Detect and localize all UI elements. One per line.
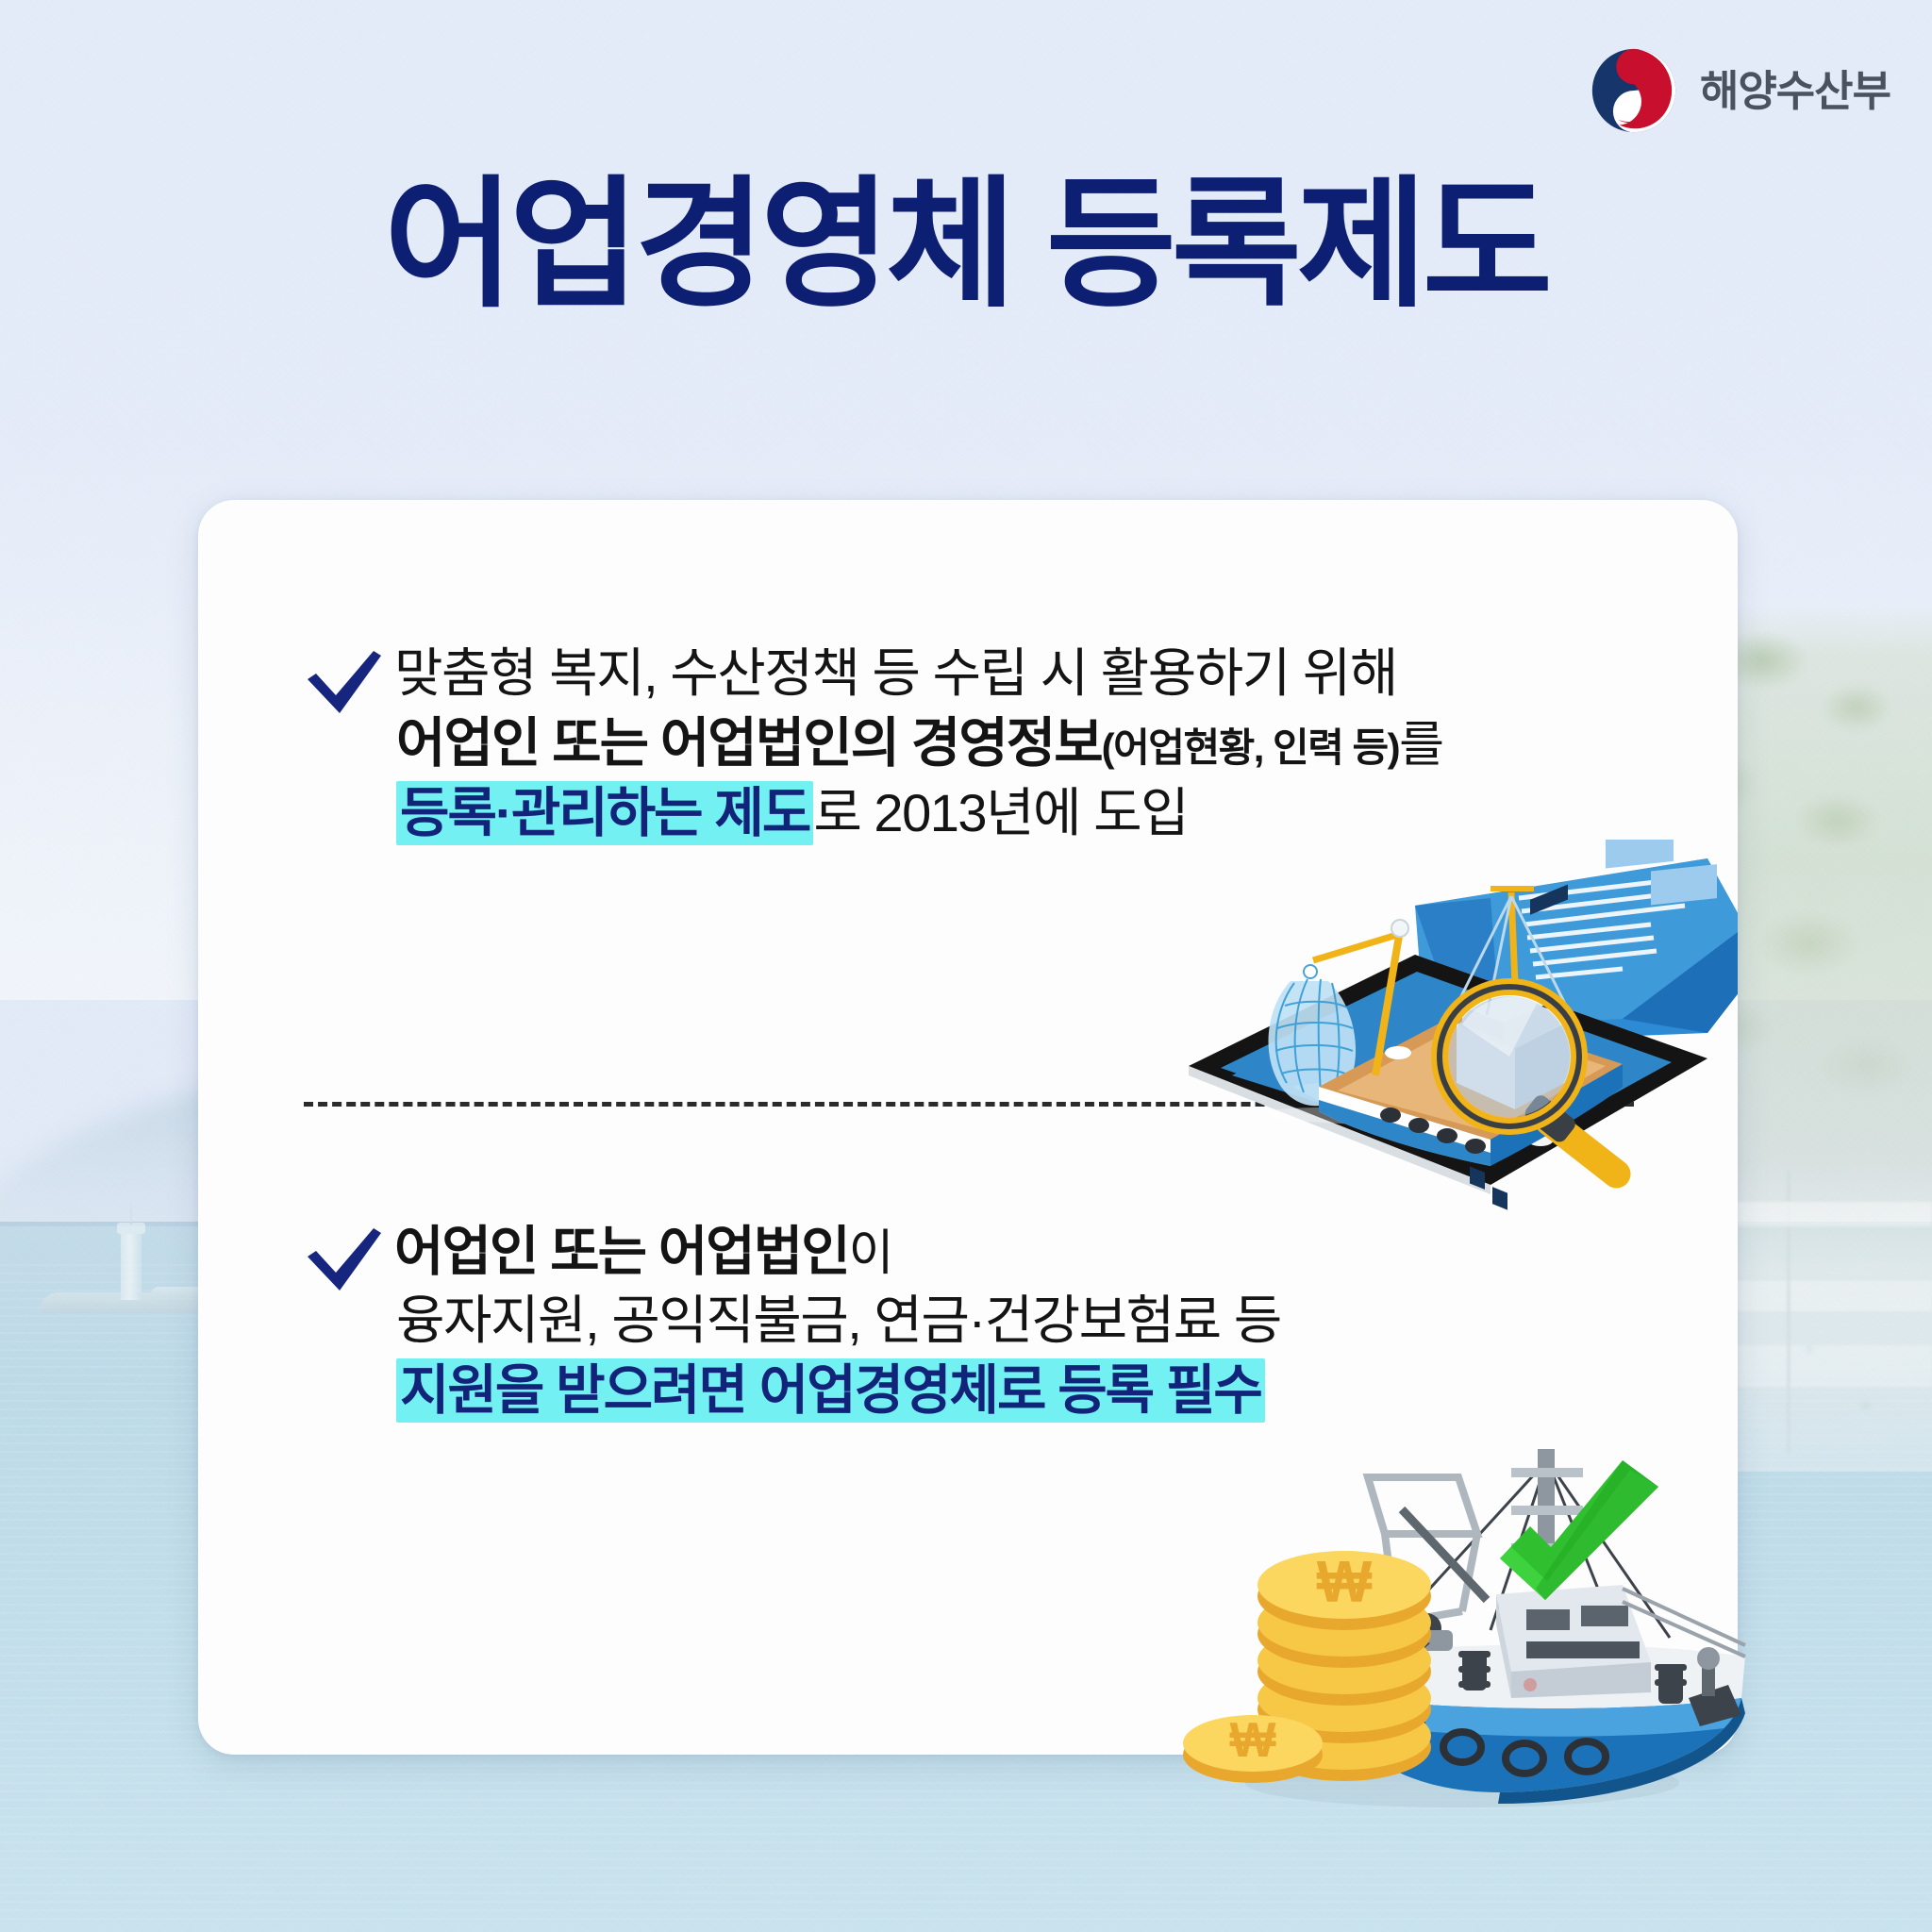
block2-line2: 융자지원, 공익직불금, 연금·건강보험료 등 — [396, 1287, 1672, 1356]
block1-line3-tail: 로 2013년에 도입 — [813, 783, 1188, 842]
block1-line2-bold: 어업인 또는 어업법인의 경영정보 — [396, 713, 1102, 774]
info-block-1-lines: 맞춤형 복지, 수산정책 등 수립 시 활용하기 위해 어업인 또는 어업법인의… — [394, 640, 1672, 848]
block1-line2: 어업인 또는 어업법인의 경영정보(어업현황, 인력 등)를 — [396, 708, 1672, 778]
info-block-2: 어업인 또는 어업법인이 융자지원, 공익직불금, 연금·건강보험료 등 지원을… — [304, 1217, 1672, 1425]
ministry-name-label: 해양수산부 — [1700, 70, 1890, 112]
lighthouse-mast — [130, 1204, 132, 1224]
block2-line1-tail: 이 — [849, 1226, 892, 1281]
ministry-logo: 해양수산부 — [1589, 45, 1890, 136]
page-title: 어업경영체 등록제도 — [0, 168, 1932, 321]
block1-line1: 맞춤형 복지, 수산정책 등 수립 시 활용하기 위해 — [394, 640, 1672, 708]
won-symbol: ₩ — [1317, 1550, 1373, 1615]
info-block-1: 맞춤형 복지, 수산정책 등 수립 시 활용하기 위해 어업인 또는 어업법인의… — [304, 640, 1672, 848]
lighthouse-tower — [121, 1230, 142, 1300]
check-mark-icon — [304, 1217, 394, 1296]
block1-line3: 등록·관리하는 제도로 2013년에 도입 — [396, 778, 1672, 848]
won-symbol: ₩ — [1229, 1713, 1276, 1768]
check-mark-icon — [304, 640, 394, 719]
block1-line2-paren: (어업현황, 인력 등) — [1102, 725, 1399, 770]
info-block-2-lines: 어업인 또는 어업법인이 융자지원, 공익직불금, 연금·건강보험료 등 지원을… — [394, 1217, 1672, 1425]
coins-fishing-boat-check-illustration: ₩ ₩ — [1179, 1415, 1783, 1811]
tablet-fishing-boat-document-magnifier-illustration — [1179, 840, 1738, 1245]
korea-government-taegeuk-emblem-icon — [1589, 45, 1679, 136]
block2-line3-highlight: 지원을 받으려면 어업경영체로 등록 필수 — [396, 1358, 1265, 1423]
block1-line2-tail: 를 — [1399, 718, 1442, 773]
won-coin-icon: ₩ — [1183, 1713, 1323, 1783]
block1-line3-highlight: 등록·관리하는 제도 — [396, 781, 813, 845]
block2-line1-bold: 어업인 또는 어업법인 — [394, 1222, 849, 1282]
